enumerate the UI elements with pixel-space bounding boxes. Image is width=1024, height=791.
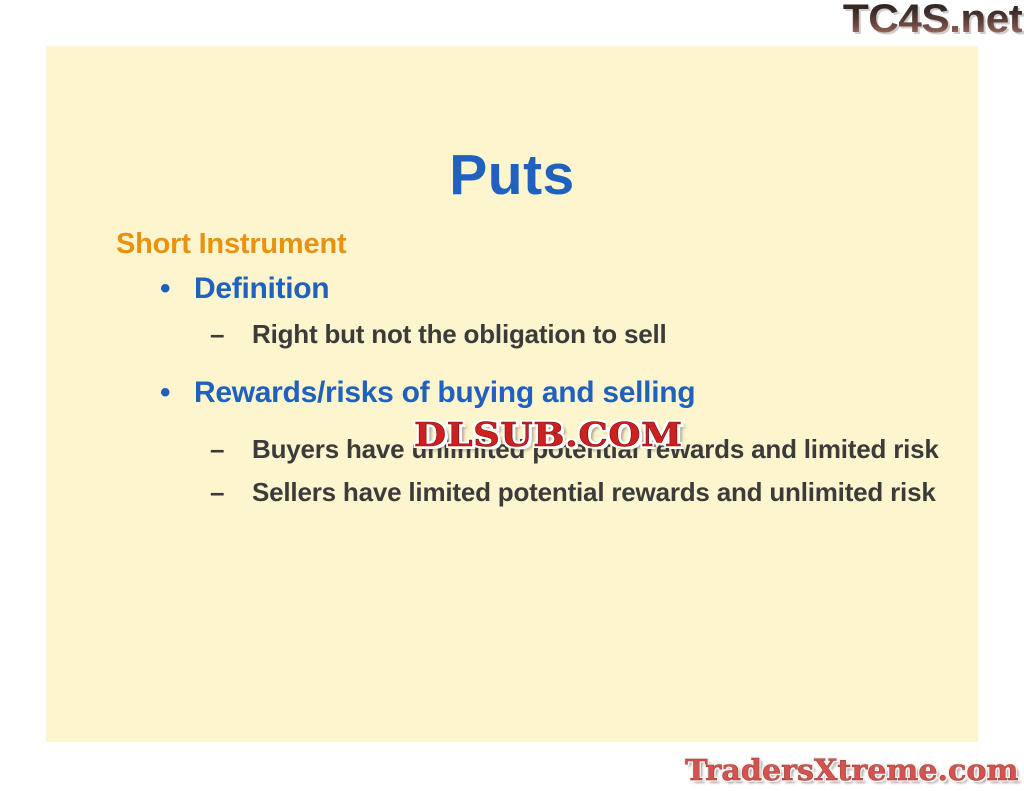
sub-item-text: Sellers have limited potential rewards a… [252, 477, 936, 507]
dash-icon: – [210, 317, 224, 351]
bullet-item-rewards-risks: • Rewards/risks of buying and selling [152, 375, 978, 412]
site-logo-top: TC4S.net [842, 0, 1022, 39]
sub-item-right-to-sell: – Right but not the obligation to sell [204, 317, 952, 351]
bullet-item-definition: • Definition [152, 271, 978, 308]
section-heading-short-instrument: Short Instrument [116, 226, 978, 262]
dash-icon: – [210, 475, 224, 509]
bullet-dot-icon: • [160, 375, 170, 412]
dlsub-watermark: DLSUB.COM [414, 418, 683, 451]
sub-item-text: Right but not the obligation to sell [252, 319, 667, 349]
slide-title: Puts [46, 146, 978, 206]
dash-icon: – [210, 432, 224, 466]
sub-item-sellers: – Sellers have limited potential rewards… [204, 475, 952, 509]
bullet-label-definition: Definition [194, 272, 329, 305]
bullet-dot-icon: • [160, 271, 170, 308]
presentation-slide: Puts Short Instrument • Definition – Rig… [46, 46, 978, 742]
slide-body: Short Instrument • Definition – Right bu… [46, 226, 978, 509]
bullet-label-rewards-risks: Rewards/risks of buying and selling [194, 376, 695, 409]
site-logo-bottom: TradersXtreme.com [685, 756, 1018, 785]
